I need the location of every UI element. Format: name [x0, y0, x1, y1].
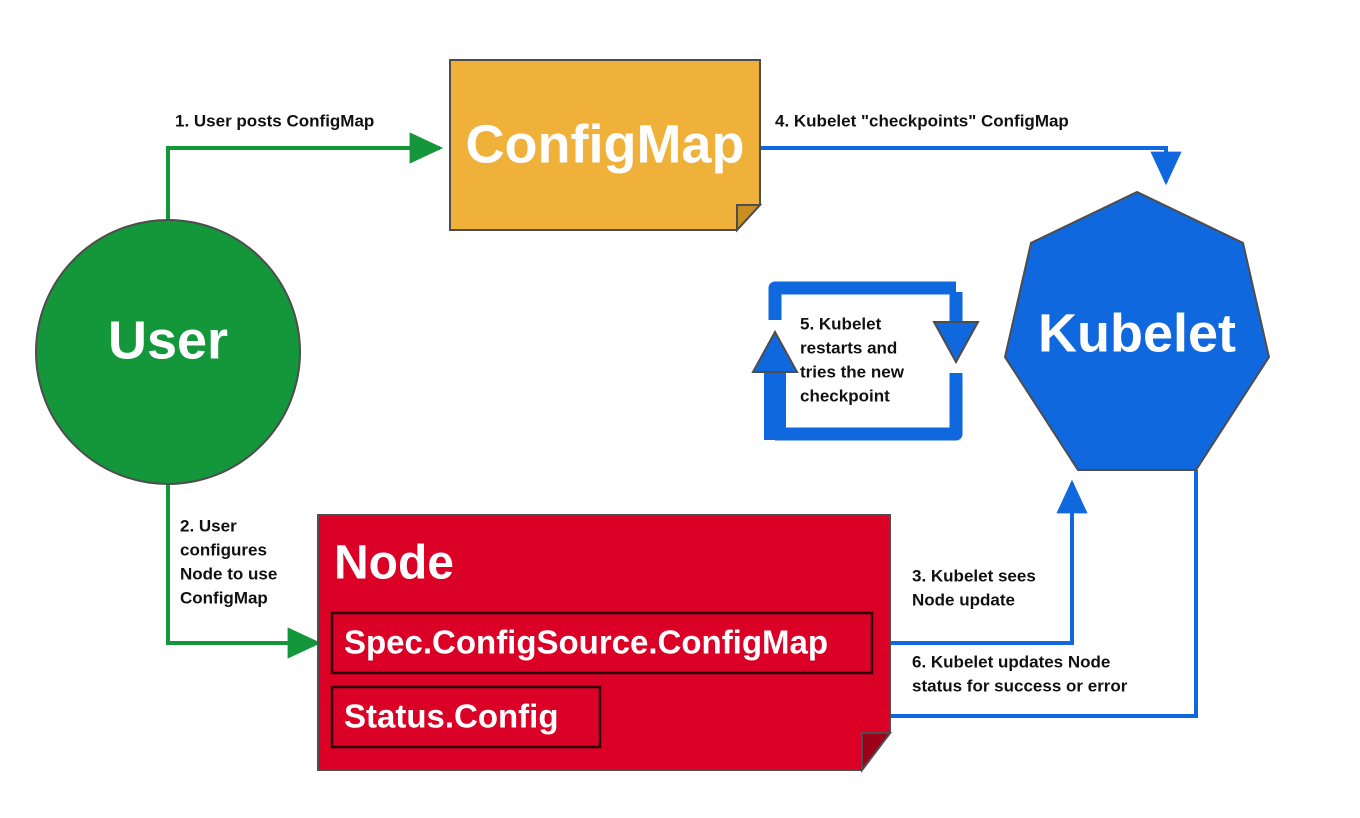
configmap-label: ConfigMap — [466, 114, 745, 174]
configmap-note-fold — [737, 205, 760, 230]
edge-2-user-configures-node: 2. User configures Node to use ConfigMap — [168, 455, 318, 643]
node-node[interactable]: Node Spec.ConfigSource.ConfigMap Status.… — [318, 515, 890, 770]
edge-2-label-line-3: Node to use — [180, 564, 277, 583]
node-field-status-label: Status.Config — [344, 698, 558, 735]
node-title: Node — [334, 537, 454, 590]
node-user[interactable]: User — [36, 220, 300, 484]
node-kubelet[interactable]: Kubelet — [1005, 192, 1269, 470]
edge-3-label-line-2: Node update — [912, 590, 1015, 609]
edge-3-line — [872, 483, 1072, 643]
user-label: User — [108, 310, 228, 370]
edge-3-kubelet-sees-node-update: 3. Kubelet sees Node update — [872, 483, 1072, 643]
edge-2-label-line-1: 2. User — [180, 516, 237, 535]
edge-6-label-line-1: 6. Kubelet updates Node — [912, 652, 1110, 671]
edge-5-kubelet-restart-loop: 5. Kubelet restarts and tries the new ch… — [753, 288, 978, 440]
edge-5-down-arrowhead — [934, 322, 978, 362]
edge-4-line — [760, 148, 1166, 182]
edge-5-label-line-2: restarts and — [800, 338, 897, 357]
edge-4-label: 4. Kubelet "checkpoints" ConfigMap — [775, 111, 1069, 130]
diagram-svg: 1. User posts ConfigMap 2. User configur… — [0, 0, 1360, 818]
edge-4-kubelet-checkpoints-configmap: 4. Kubelet "checkpoints" ConfigMap — [760, 111, 1166, 182]
edge-5-up-arrowhead — [753, 332, 797, 372]
edge-5-left-stem — [764, 362, 786, 440]
edge-2-label-line-2: configures — [180, 540, 267, 559]
edge-5-label-line-1: 5. Kubelet — [800, 314, 882, 333]
edge-5-label-line-4: checkpoint — [800, 386, 890, 405]
node-note-fold — [862, 733, 890, 770]
edge-3-label-line-1: 3. Kubelet sees — [912, 566, 1036, 585]
kubelet-label: Kubelet — [1038, 303, 1236, 363]
edge-6-label-line-2: status for success or error — [912, 676, 1128, 695]
edge-5-label-line-3: tries the new — [800, 362, 905, 381]
edge-1-label: 1. User posts ConfigMap — [175, 111, 374, 130]
diagram-canvas: 1. User posts ConfigMap 2. User configur… — [0, 0, 1360, 818]
node-field-spec-label: Spec.ConfigSource.ConfigMap — [344, 624, 828, 661]
edge-2-label-line-4: ConfigMap — [180, 588, 268, 607]
node-configmap[interactable]: ConfigMap — [450, 60, 760, 230]
